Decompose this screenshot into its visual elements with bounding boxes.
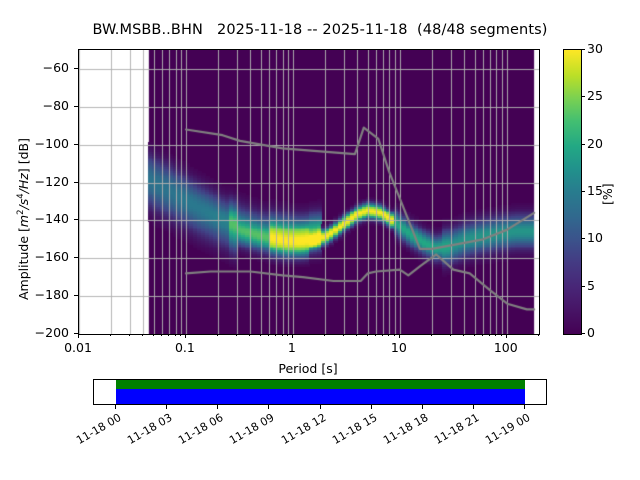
x-tick-mark-minor (142, 334, 143, 336)
x-tick-mark-minor (482, 334, 483, 336)
x-tick-mark-minor (236, 334, 237, 336)
colorbar-tick-mark (581, 333, 585, 334)
x-tick-mark-minor (382, 334, 383, 336)
colorbar-tick-label: 5 (587, 278, 595, 293)
colorbar-tick-label: 25 (587, 88, 603, 103)
y-axis-unit-s-exp: 4 (16, 193, 26, 198)
x-tick-mark-minor (495, 334, 496, 336)
colorbar-tick-label: 30 (587, 41, 603, 56)
x-tick-mark-minor (474, 334, 475, 336)
y-tick-label: −180 (0, 287, 69, 302)
y-tick-mark (74, 219, 78, 220)
coverage-tick-label: 11-18 15 (319, 411, 379, 453)
y-tick-label: −140 (0, 211, 69, 226)
coverage-segment-green (116, 380, 525, 389)
x-tick-mark-minor (282, 334, 283, 336)
y-tick-mark (74, 182, 78, 183)
colorbar-tick-mark (581, 238, 585, 239)
colorbar-unit-label: [%] (600, 183, 615, 205)
x-tick-mark (185, 334, 186, 338)
colorbar-tick-mark (581, 49, 585, 50)
coverage-tick-label: 11-18 09 (217, 411, 277, 453)
x-tick-label: 1 (252, 340, 332, 355)
x-tick-mark-minor (287, 334, 288, 336)
x-tick-mark (292, 334, 293, 338)
y-tick-label: −100 (0, 136, 69, 151)
x-tick-mark-minor (110, 334, 111, 336)
x-tick-mark-minor (356, 334, 357, 336)
coverage-tick-mark (371, 405, 372, 409)
x-tick-label: 0.01 (38, 340, 118, 355)
colorbar-tick-mark (581, 286, 585, 287)
coverage-tick-label: 11-18 03 (114, 411, 174, 453)
colorbar-tick-mark (581, 96, 585, 97)
x-axis-label: Period [s] (78, 361, 538, 376)
x-tick-mark-minor (217, 334, 218, 336)
y-tick-mark (74, 68, 78, 69)
x-tick-mark-minor (450, 334, 451, 336)
colorbar-tick-mark (581, 144, 585, 145)
coverage-tick-mark (320, 405, 321, 409)
coverage-tick-label: 11-18 21 (421, 411, 481, 453)
x-tick-mark (399, 334, 400, 338)
colorbar-tick-label: 10 (587, 230, 603, 245)
y-tick-mark (74, 106, 78, 107)
coverage-tick-mark (473, 405, 474, 409)
x-tick-mark-minor (168, 334, 169, 336)
x-tick-mark (506, 334, 507, 338)
colorbar-tick-label: 0 (587, 325, 595, 340)
y-tick-mark (74, 257, 78, 258)
x-tick-mark-minor (180, 334, 181, 336)
y-axis-unit-s: /s (16, 199, 31, 210)
x-tick-mark-minor (388, 334, 389, 336)
x-tick-mark-minor (343, 334, 344, 336)
coverage-tick-mark (268, 405, 269, 409)
coverage-tick-label: 11-18 00 (63, 411, 123, 453)
coverage-tick-label: 11-18 12 (268, 411, 328, 453)
y-tick-mark (74, 144, 78, 145)
coverage-tick-label: 11-18 18 (370, 411, 430, 453)
x-tick-mark-minor (324, 334, 325, 336)
data-coverage-bar[interactable] (93, 379, 547, 405)
page-title: BW.MSBB..BHN 2025-11-18 -- 2025-11-18 (4… (0, 22, 640, 38)
x-tick-mark-minor (175, 334, 176, 336)
x-tick-label: 100 (466, 340, 546, 355)
y-tick-label: −60 (0, 60, 69, 75)
coverage-tick-label: 11-18 06 (166, 411, 226, 453)
x-tick-mark-minor (161, 334, 162, 336)
coverage-tick-mark (524, 405, 525, 409)
y-tick-label: −120 (0, 174, 69, 189)
coverage-tick-mark (115, 405, 116, 409)
colorbar-tick-mark (581, 191, 585, 192)
coverage-segment-blue (116, 389, 525, 404)
ppsd-density-canvas (79, 50, 539, 334)
x-tick-label: 0.1 (145, 340, 225, 355)
x-tick-mark-minor (268, 334, 269, 336)
x-tick-mark-minor (489, 334, 490, 336)
y-tick-label: −80 (0, 98, 69, 113)
x-tick-mark-minor (501, 334, 502, 336)
coverage-tick-label: 11-19 00 (472, 411, 532, 453)
x-tick-mark-minor (129, 334, 130, 336)
y-tick-mark (74, 295, 78, 296)
coverage-tick-mark (217, 405, 218, 409)
x-tick-mark-minor (538, 334, 539, 336)
x-tick-mark-minor (260, 334, 261, 336)
x-tick-mark-minor (367, 334, 368, 336)
y-tick-label: −160 (0, 249, 69, 264)
ppsd-plot-area[interactable] (78, 49, 540, 335)
ppsd-figure: BW.MSBB..BHN 2025-11-18 -- 2025-11-18 (4… (0, 0, 640, 480)
colorbar-tick-label: 20 (587, 136, 603, 151)
y-tick-label: −200 (0, 325, 69, 340)
x-tick-mark-minor (394, 334, 395, 336)
x-tick-mark (78, 334, 79, 338)
x-tick-label: 10 (359, 340, 439, 355)
x-tick-mark-minor (275, 334, 276, 336)
colorbar[interactable] (563, 49, 582, 335)
x-tick-mark-minor (463, 334, 464, 336)
x-tick-mark-minor (431, 334, 432, 336)
x-tick-mark-minor (249, 334, 250, 336)
x-tick-mark-minor (375, 334, 376, 336)
coverage-tick-mark (422, 405, 423, 409)
x-tick-mark-minor (153, 334, 154, 336)
coverage-tick-mark (166, 405, 167, 409)
